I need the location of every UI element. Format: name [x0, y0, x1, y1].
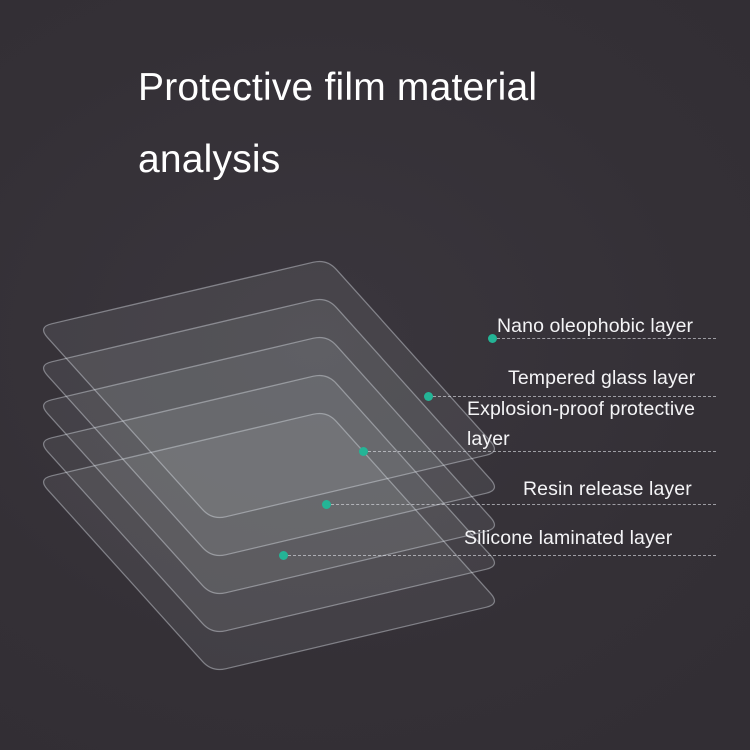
leader-line-4 — [326, 504, 716, 505]
layer-label-3: Explosion-proof protective layer — [467, 394, 713, 454]
leader-line-5 — [283, 555, 716, 556]
layer-label-5: Silicone laminated layer — [464, 523, 672, 553]
layer-label-2: Tempered glass layer — [508, 363, 695, 393]
layer-marker-dot-5[interactable] — [279, 551, 288, 560]
page-title: Protective film material analysis — [138, 52, 678, 196]
layer-label-1: Nano oleophobic layer — [497, 311, 693, 341]
sheet-group — [44, 261, 495, 669]
stack-sheet-2 — [44, 299, 495, 555]
layer-marker-dot-3[interactable] — [359, 447, 368, 456]
layer-marker-dot-2[interactable] — [424, 392, 433, 401]
layer-marker-dot-1[interactable] — [488, 334, 497, 343]
layer-label-4: Resin release layer — [523, 474, 692, 504]
stack-sheet-1 — [44, 261, 495, 517]
diagram-canvas: Protective film material analysis Nano o… — [0, 0, 750, 750]
layer-marker-dot-4[interactable] — [322, 500, 331, 509]
